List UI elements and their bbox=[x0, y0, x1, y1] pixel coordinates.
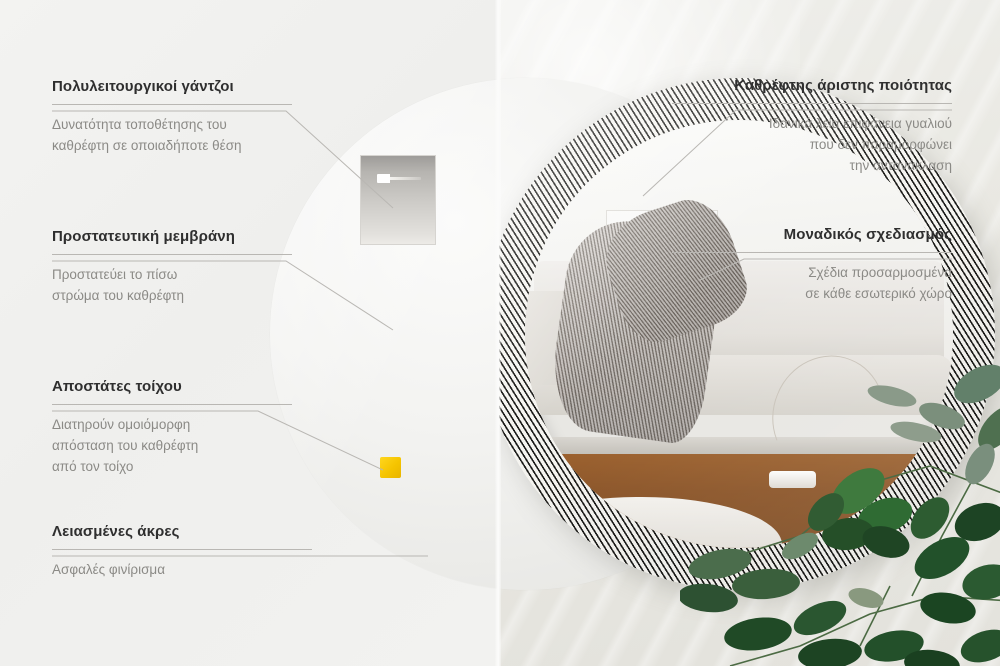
callout-protective-membrane-title: Προστατευτική μεμβράνη bbox=[52, 228, 292, 245]
callout-hooks-desc: Δυνατότητα τοποθέτησης τουκαθρέφτη σε οπ… bbox=[52, 115, 292, 157]
callout-premium-mirror-title: Καθρέφτης άριστης ποιότητας bbox=[672, 77, 952, 94]
callout-protective-membrane-desc: Προστατεύει το πίσωστρώμα του καθρέφτη bbox=[52, 265, 292, 307]
callout-polished-edges-desc: Ασφαλές φινίρισμα bbox=[52, 560, 312, 581]
callout-polished-edges-rule bbox=[52, 549, 312, 550]
wall-spacer-part bbox=[380, 457, 401, 478]
hook-icon bbox=[377, 174, 421, 183]
callout-unique-design: Μοναδικός σχεδιασμός Σχέδια προσαρμοσμέν… bbox=[672, 226, 952, 305]
callout-protective-membrane-rule bbox=[52, 254, 292, 255]
callout-polished-edges: Λειασμένες άκρες Ασφαλές φινίρισμα bbox=[52, 523, 312, 581]
callout-hooks-rule bbox=[52, 104, 292, 105]
product-infographic: Πολυλειτουργικοί γάντζοι Δυνατότητα τοπο… bbox=[0, 0, 1000, 666]
callout-premium-mirror-rule bbox=[672, 103, 952, 104]
callout-protective-membrane: Προστατευτική μεμβράνη Προστατεύει το πί… bbox=[52, 228, 292, 307]
callout-unique-design-title: Μοναδικός σχεδιασμός bbox=[672, 226, 952, 243]
callout-premium-mirror: Καθρέφτης άριστης ποιότητας Ιδανικά λεία… bbox=[672, 77, 952, 177]
callout-unique-design-rule bbox=[672, 252, 952, 253]
leaf-cluster bbox=[680, 357, 1000, 666]
mirror-hook-part bbox=[360, 155, 436, 245]
callout-wall-spacers-rule bbox=[52, 404, 292, 405]
callout-hooks-title: Πολυλειτουργικοί γάντζοι bbox=[52, 78, 292, 95]
foliage-decoration bbox=[680, 346, 1000, 666]
callout-polished-edges-title: Λειασμένες άκρες bbox=[52, 523, 312, 540]
callout-premium-mirror-desc: Ιδανικά λεία επιφάνεια γυαλιούπου δεν πα… bbox=[672, 114, 952, 177]
callout-wall-spacers-desc: Διατηρούν ομοιόμορφηαπόσταση του καθρέφτ… bbox=[52, 415, 292, 478]
callout-wall-spacers-title: Αποστάτες τοίχου bbox=[52, 378, 292, 395]
callout-hooks: Πολυλειτουργικοί γάντζοι Δυνατότητα τοπο… bbox=[52, 78, 292, 157]
panel-divider bbox=[495, 0, 501, 666]
callout-wall-spacers: Αποστάτες τοίχου Διατηρούν ομοιόμορφηαπό… bbox=[52, 378, 292, 478]
callout-unique-design-desc: Σχέδια προσαρμοσμένασε κάθε εσωτερικό χώ… bbox=[672, 263, 952, 305]
